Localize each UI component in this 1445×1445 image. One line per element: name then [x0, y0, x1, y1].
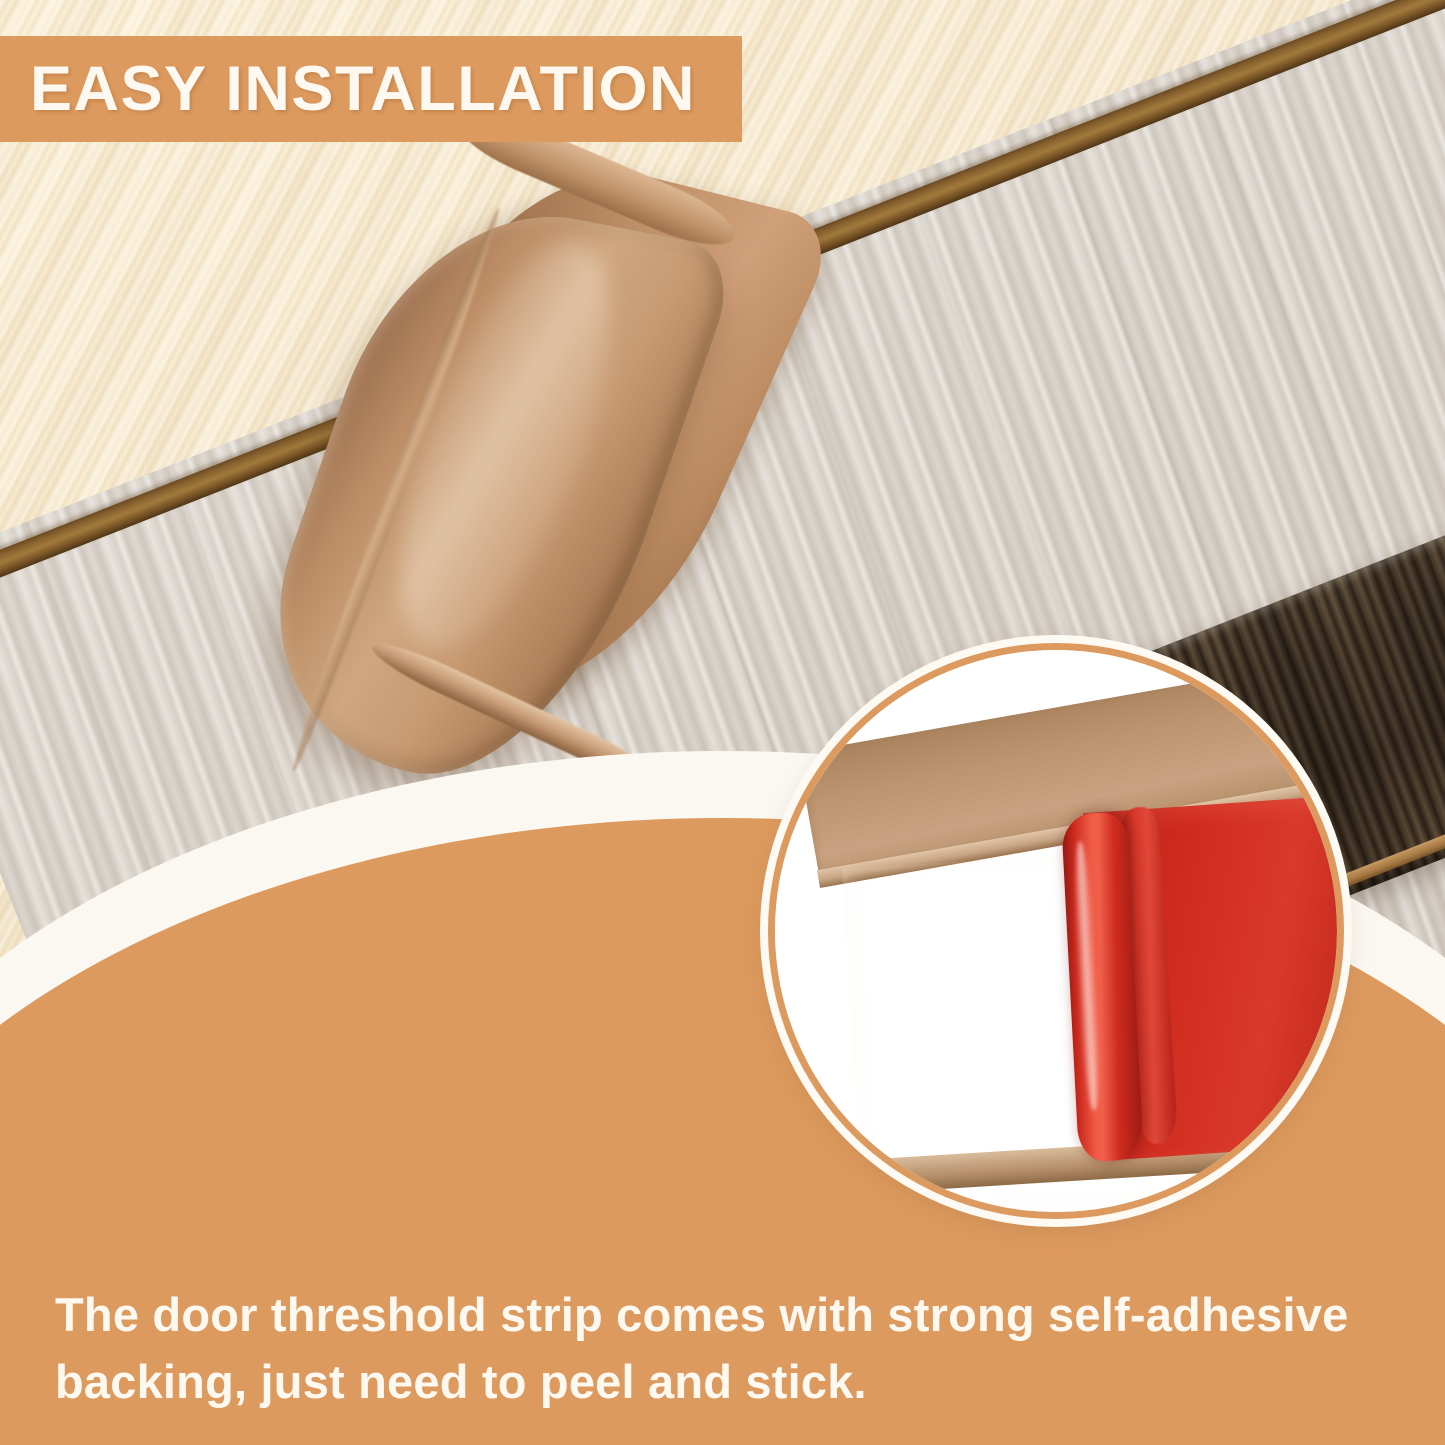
feature-banner: EASY INSTALLATION [0, 36, 742, 142]
caption-text: The door threshold strip comes with stro… [55, 1282, 1400, 1415]
product-feature-image: EASY INSTALLATION The door threshold str… [0, 0, 1445, 1445]
banner-title: EASY INSTALLATION [30, 58, 696, 121]
adhesive-detail-inset-circle [775, 650, 1337, 1212]
caption-block: The door threshold strip comes with stro… [55, 1282, 1400, 1415]
